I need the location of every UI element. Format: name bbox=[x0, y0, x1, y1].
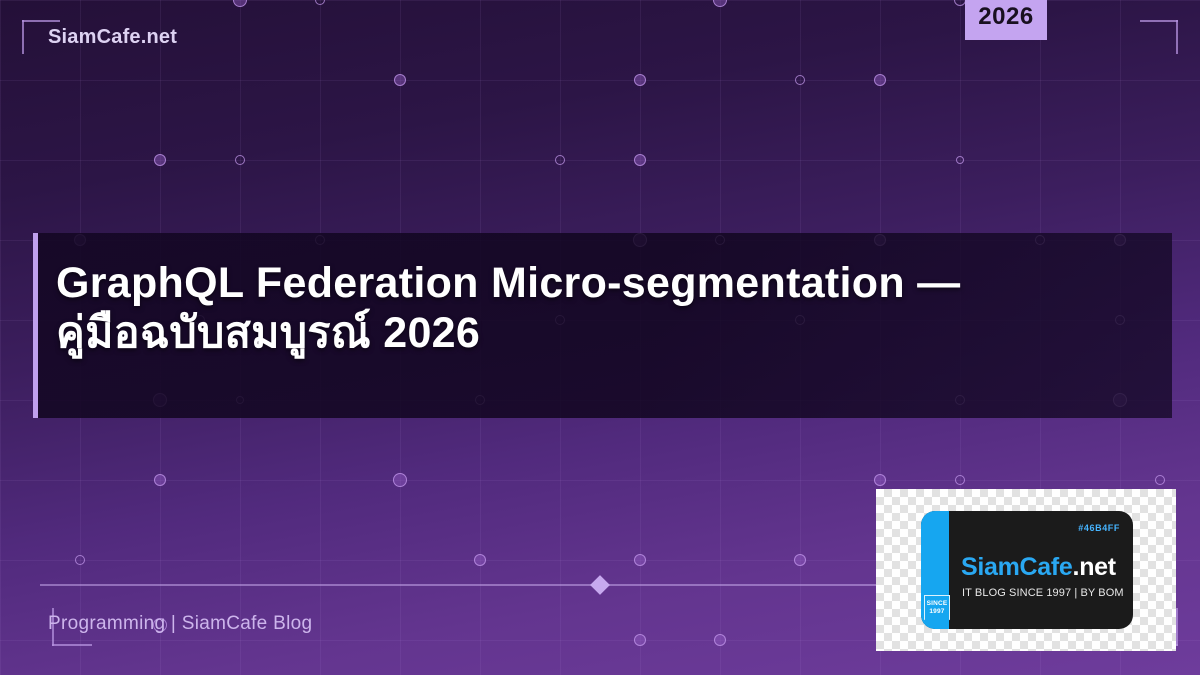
logo-hex-code: #46B4FF bbox=[1078, 523, 1120, 533]
grid-node-dot bbox=[874, 474, 886, 486]
diamond-accent-icon bbox=[590, 575, 610, 595]
grid-node-dot bbox=[713, 0, 727, 7]
grid-node-dot bbox=[634, 554, 646, 566]
logo-card: #46B4FF SiamCafe.net IT BLOG SINCE 1997 … bbox=[876, 489, 1176, 651]
grid-node-dot bbox=[795, 75, 805, 85]
title-accent-bar bbox=[33, 233, 38, 418]
grid-node-dot bbox=[714, 634, 726, 646]
logo-brand-primary: SiamCafe bbox=[961, 553, 1073, 581]
logo-brand-suffix: .net bbox=[1073, 553, 1116, 581]
footer-category: Programming | SiamCafe Blog bbox=[48, 613, 312, 635]
logo-inner-panel: #46B4FF SiamCafe.net IT BLOG SINCE 1997 … bbox=[921, 511, 1133, 629]
grid-node-dot bbox=[394, 74, 406, 86]
grid-node-dot bbox=[393, 473, 407, 487]
grid-node-dot bbox=[474, 554, 486, 566]
grid-node-dot bbox=[955, 475, 965, 485]
corner-bracket-top-right bbox=[1140, 20, 1178, 54]
grid-node-dot bbox=[154, 154, 166, 166]
grid-node-dot bbox=[233, 0, 247, 7]
cover-canvas: SiamCafe.net 2026 GraphQL Federation Mic… bbox=[0, 0, 1200, 675]
grid-node-dot bbox=[794, 554, 806, 566]
grid-node-dot bbox=[634, 634, 646, 646]
grid-node-dot bbox=[154, 474, 166, 486]
year-badge: 2026 bbox=[965, 0, 1047, 40]
grid-node-dot bbox=[874, 74, 886, 86]
grid-node-dot bbox=[315, 0, 325, 5]
site-name: SiamCafe.net bbox=[48, 26, 177, 49]
shield-label-since: SINCE bbox=[927, 600, 948, 608]
grid-node-dot bbox=[634, 154, 646, 166]
grid-node-dot bbox=[634, 74, 646, 86]
page-title: GraphQL Federation Micro-segmentation — … bbox=[56, 258, 1136, 358]
grid-node-dot bbox=[956, 156, 964, 164]
logo-wordmark: SiamCafe.net bbox=[961, 553, 1116, 582]
shield-label-year: 1997 bbox=[929, 608, 944, 616]
grid-node-dot bbox=[1155, 475, 1165, 485]
grid-node-dot bbox=[235, 155, 245, 165]
grid-node-dot bbox=[75, 555, 85, 565]
logo-tagline: IT BLOG SINCE 1997 | BY BOM bbox=[962, 587, 1124, 599]
grid-node-dot bbox=[555, 155, 565, 165]
footer-divider bbox=[40, 584, 876, 586]
